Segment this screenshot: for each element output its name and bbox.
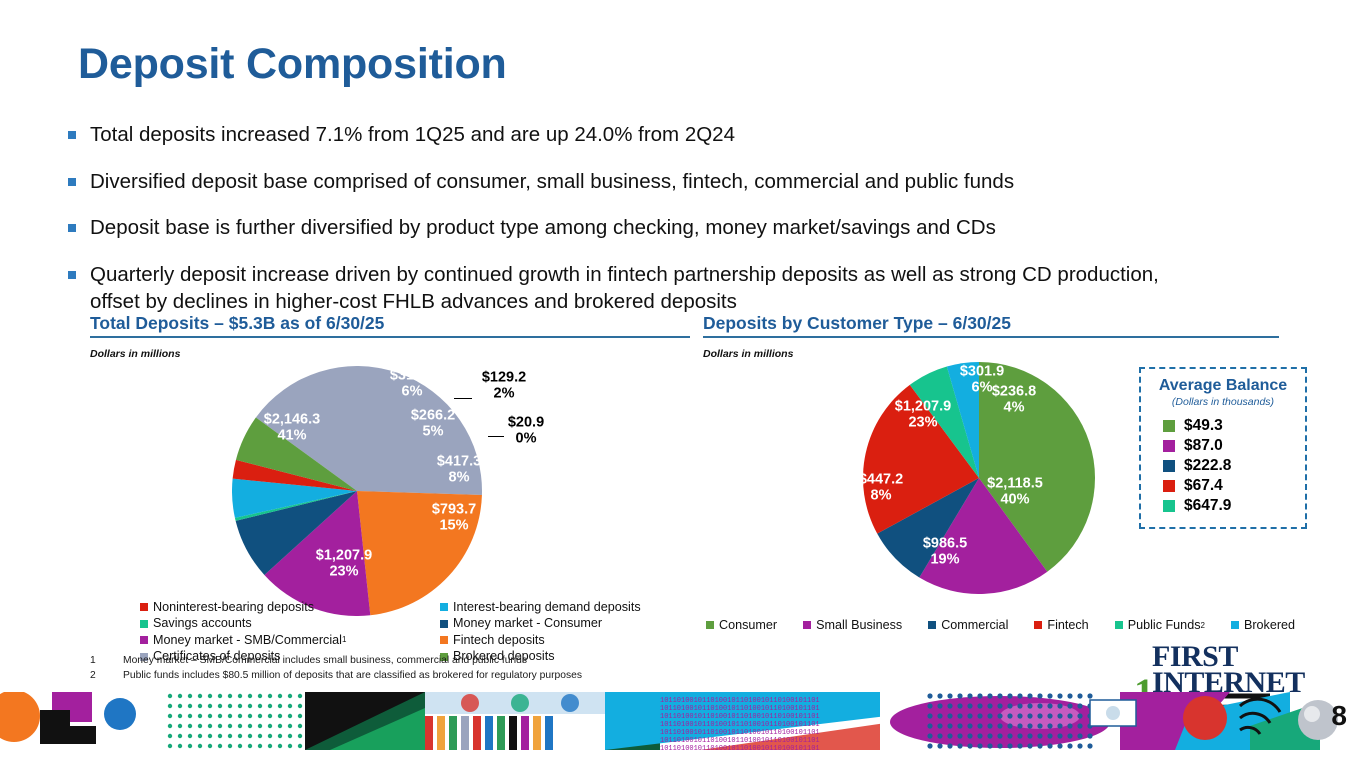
legend-item: Brokered — [1231, 618, 1295, 633]
pie-data-label: $2,118.540% — [987, 476, 1043, 507]
average-balance-swatch — [1163, 500, 1175, 512]
left-units-note: Dollars in millions — [90, 348, 180, 360]
legend-footnote-ref: 2 — [1201, 621, 1205, 630]
legend-item: Savings accounts — [140, 616, 440, 631]
bullet-text: Total deposits increased 7.1% from 1Q25 … — [90, 122, 735, 149]
page-number: 8 — [1331, 700, 1347, 732]
legend-label: Interest-bearing demand deposits — [453, 600, 641, 615]
right-header-rule — [703, 336, 1279, 338]
bullet-marker-icon — [68, 271, 76, 279]
total-deposits-pie-chart: $2,146.341%$1,207.923%$793.715%$417.38%$… — [232, 358, 522, 598]
average-balance-row: $222.8 — [1163, 457, 1305, 475]
legend-swatch — [140, 603, 148, 611]
average-balance-row: $647.9 — [1163, 497, 1305, 515]
legend-label: Savings accounts — [153, 616, 252, 631]
footnote-number: 2 — [90, 669, 123, 684]
legend-label: Brokered — [1244, 618, 1295, 633]
legend-item: Commercial — [928, 618, 1008, 633]
average-balance-value: $647.9 — [1184, 497, 1231, 515]
legend-item: Small Business — [803, 618, 902, 633]
bullet-text: Deposit base is further diversified by p… — [90, 215, 996, 242]
pie-data-label: $317.36% — [390, 368, 434, 399]
legend-label: Public Funds — [1128, 618, 1201, 633]
legend-swatch — [1231, 621, 1239, 629]
svg-text:101101001011010010110100101101: 10110100101101001011010010110100101101 — [660, 713, 820, 721]
legend-swatch — [440, 636, 448, 644]
pie-data-label: $266.25% — [411, 408, 455, 439]
bullet-text: Diversified deposit base comprised of co… — [90, 169, 1014, 196]
pie-data-label: $1,207.923% — [316, 548, 372, 579]
legend-swatch — [1034, 621, 1042, 629]
footnote: 1Money market – SMB/Commercial includes … — [90, 654, 582, 669]
legend-item: Money market - Consumer — [440, 616, 680, 631]
pie-data-label: $129.22% — [482, 370, 526, 401]
average-balance-value: $222.8 — [1184, 457, 1231, 475]
bullet-marker-icon — [68, 178, 76, 186]
left-chart-header: Total Deposits – $5.3B as of 6/30/25 — [90, 313, 384, 334]
footnote-number: 1 — [90, 654, 123, 669]
bullet-marker-icon — [68, 224, 76, 232]
svg-text:101101001011010010110100101101: 10110100101101001011010010110100101101 — [660, 697, 820, 705]
bullet-item: Total deposits increased 7.1% from 1Q25 … — [68, 122, 1298, 149]
legend-label: Money market - Consumer — [453, 616, 602, 631]
legend-label: Fintech deposits — [453, 633, 545, 648]
average-balance-value: $49.3 — [1184, 417, 1223, 435]
legend-item: Interest-bearing demand deposits — [440, 600, 680, 615]
pie-data-label: $417.38% — [437, 454, 481, 485]
average-balance-title: Average Balance — [1141, 377, 1305, 395]
average-balance-row: $87.0 — [1163, 437, 1305, 455]
legend-item: Fintech — [1034, 618, 1088, 633]
legend-footnote-ref: 1 — [342, 635, 346, 644]
average-balance-value: $67.4 — [1184, 477, 1223, 495]
legend-label: Fintech — [1047, 618, 1088, 633]
legend-swatch — [706, 621, 714, 629]
average-balance-swatch — [1163, 480, 1175, 492]
pie-data-label: $2,146.341% — [264, 412, 320, 443]
logo-name: FIRST INTERNET — [1152, 644, 1365, 696]
svg-text:101101001011010010110100101101: 10110100101101001011010010110100101101 — [660, 721, 820, 729]
right-units-note: Dollars in millions — [703, 348, 793, 360]
legend-item: Fintech deposits — [440, 633, 680, 648]
svg-text:101101001011010010110100101101: 10110100101101001011010010110100101101 — [660, 705, 820, 713]
legend-swatch — [440, 603, 448, 611]
slide-root: Deposit Composition Total deposits incre… — [0, 0, 1365, 768]
legend-swatch — [928, 621, 936, 629]
average-balance-row: $49.3 — [1163, 417, 1305, 435]
legend-swatch — [1115, 621, 1123, 629]
footnote-text: Money market – SMB/Commercial includes s… — [123, 654, 527, 669]
legend-label: Noninterest-bearing deposits — [153, 600, 314, 615]
bullet-item: Deposit base is further diversified by p… — [68, 215, 1298, 242]
legend-item: Public Funds2 — [1115, 618, 1205, 633]
bullet-list: Total deposits increased 7.1% from 1Q25 … — [68, 122, 1298, 335]
footnote-text: Public funds includes $80.5 million of d… — [123, 669, 582, 684]
pie-data-label: $236.84% — [992, 384, 1036, 415]
left-header-rule — [90, 336, 690, 338]
average-balance-swatch — [1163, 420, 1175, 432]
footnotes: 1Money market – SMB/Commercial includes … — [90, 654, 582, 683]
bullet-marker-icon — [68, 131, 76, 139]
leader-line — [488, 436, 504, 437]
legend-label: Consumer — [719, 618, 777, 633]
average-balance-value: $87.0 — [1184, 437, 1223, 455]
svg-text:101101001011010010110100101101: 10110100101101001011010010110100101101 — [660, 745, 820, 750]
svg-text:101101001011010010110100101101: 10110100101101001011010010110100101101 — [660, 737, 820, 745]
average-balance-list: $49.3$87.0$222.8$67.4$647.9 — [1141, 417, 1305, 515]
legend-item: Money market - SMB/Commercial1 — [140, 633, 440, 648]
pie-data-label: $1,207.923% — [895, 399, 951, 430]
legend-swatch — [803, 621, 811, 629]
average-balance-swatch — [1163, 440, 1175, 452]
pie-data-label: $447.28% — [859, 472, 903, 503]
customer-type-pie-chart: $2,118.540%$986.519%$447.28%$1,207.923%$… — [863, 362, 1103, 602]
legend-label: Money market - SMB/Commercial — [153, 633, 342, 648]
legend-swatch — [140, 620, 148, 628]
right-chart-legend: ConsumerSmall BusinessCommercialFintechP… — [706, 618, 1321, 633]
legend-item: Consumer — [706, 618, 777, 633]
legend-label: Small Business — [816, 618, 902, 633]
legend-swatch — [140, 636, 148, 644]
average-balance-row: $67.4 — [1163, 477, 1305, 495]
leader-line — [454, 398, 472, 399]
legend-swatch — [440, 620, 448, 628]
footnote: 2Public funds includes $80.5 million of … — [90, 669, 582, 684]
pie-data-label: $793.715% — [432, 502, 476, 533]
svg-text:101101001011010010110100101101: 10110100101101001011010010110100101101 — [660, 729, 820, 737]
banner-art-icon: F 10110100101101001011010010110100101101… — [0, 692, 1365, 750]
bullet-text: Quarterly deposit increase driven by con… — [90, 262, 1190, 315]
pie-data-label: $20.90% — [508, 415, 544, 446]
decorative-banner: F 10110100101101001011010010110100101101… — [0, 692, 1365, 750]
legend-item: Noninterest-bearing deposits — [140, 600, 440, 615]
bullet-item: Quarterly deposit increase driven by con… — [68, 262, 1298, 315]
right-chart-header: Deposits by Customer Type – 6/30/25 — [703, 313, 1011, 334]
bullet-item: Diversified deposit base comprised of co… — [68, 169, 1298, 196]
pie-data-label: $986.519% — [923, 536, 967, 567]
average-balance-swatch — [1163, 460, 1175, 472]
page-title: Deposit Composition — [78, 40, 507, 89]
average-balance-subtitle: (Dollars in thousands) — [1141, 396, 1305, 408]
legend-label: Commercial — [941, 618, 1008, 633]
average-balance-box: Average Balance (Dollars in thousands) $… — [1139, 367, 1307, 529]
